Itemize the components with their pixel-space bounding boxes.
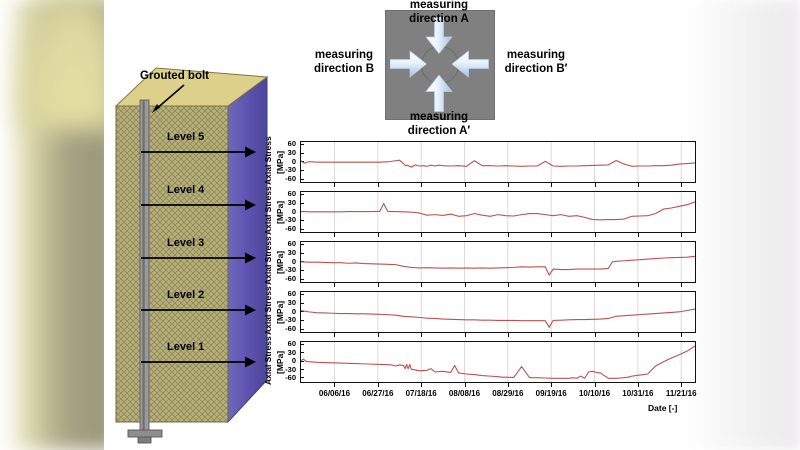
x-tick-label: 06/27/16 [362, 389, 393, 398]
x-tick-label: 10/10/16 [579, 389, 610, 398]
x-tick-mark [638, 383, 639, 387]
y-tick-label: -60 [270, 373, 296, 382]
x-tick-mark [551, 383, 552, 387]
x-tick-mark [681, 383, 682, 387]
x-tick-mark [378, 383, 379, 387]
axial-stress-chart-stack: Level 5Axial Stress[MPa]60300-30-60Level… [0, 0, 800, 450]
level-label-1: Level 1 [167, 341, 204, 353]
level-pointer-arrow-1 [141, 355, 257, 369]
x-tick-mark [508, 383, 509, 387]
x-tick-label: 08/08/16 [449, 389, 480, 398]
x-tick-label: 11/21/16 [666, 389, 697, 398]
x-tick-label: 07/18/16 [406, 389, 437, 398]
x-tick-mark [421, 383, 422, 387]
chart-panel-level-1: Level 1Axial Stress[MPa]60300-30-6006/06… [0, 0, 800, 450]
x-tick-mark [465, 383, 466, 387]
data-series-line [301, 346, 695, 378]
x-tick-mark [595, 383, 596, 387]
x-axis-title: Date [-] [648, 403, 677, 413]
x-tick-label: 10/31/16 [622, 389, 653, 398]
x-tick-label: 09/19/16 [536, 389, 567, 398]
plot-svg [301, 342, 695, 382]
x-tick-label: 06/06/16 [319, 389, 350, 398]
x-tick-mark [334, 383, 335, 387]
figure-canvas: measuring direction A measuring directio… [0, 0, 800, 450]
x-tick-label: 08/29/16 [492, 389, 523, 398]
